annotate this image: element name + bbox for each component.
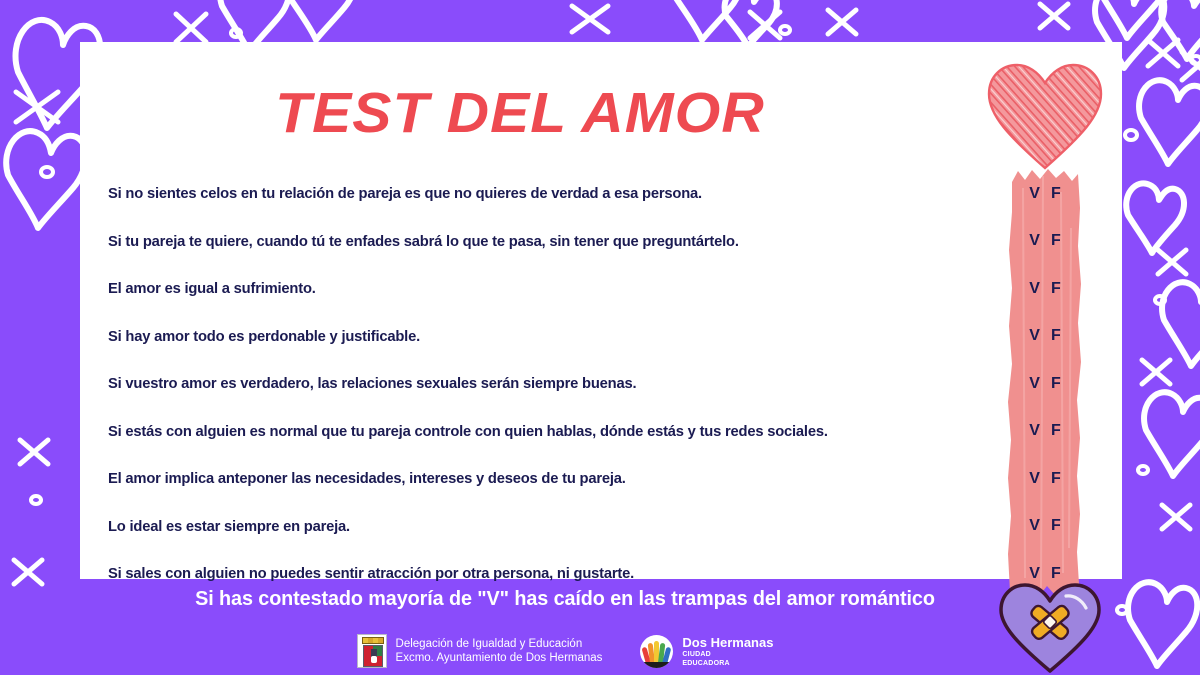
delegacion-line-1: Delegación de Igualdad y Educación [396, 637, 603, 651]
answer-false-option[interactable]: F [1051, 327, 1061, 345]
answer-false-option[interactable]: F [1051, 280, 1061, 298]
answer-row: V F [1003, 218, 1087, 266]
answer-row: V F [1003, 360, 1087, 408]
footer-logos: Delegación de Igualdad y Educación Excmo… [0, 634, 1130, 668]
answer-true-option[interactable]: V [1029, 565, 1040, 583]
answer-row: V F [1003, 265, 1087, 313]
question-item: Si vuestro amor es verdadero, las relaci… [108, 360, 981, 408]
answer-false-option[interactable]: F [1051, 232, 1061, 250]
dos-hermanas-subtitle-1: CIUDAD [682, 651, 773, 658]
delegacion-text-block: Delegación de Igualdad y Educación Excmo… [396, 637, 603, 665]
dos-hermanas-logo-group: Dos Hermanas CIUDAD EDUCADORA [640, 635, 773, 668]
dos-hermanas-subtitle-2: EDUCADORA [682, 660, 773, 667]
answer-row: V F [1003, 313, 1087, 361]
content-card: TEST DEL AMOR [80, 42, 1122, 579]
question-item: Si hay amor todo es perdonable y justifi… [108, 313, 981, 361]
footer-message: Si has contestado mayoría de "V" has caí… [6, 588, 1125, 611]
scribble-heart-icon [985, 60, 1105, 172]
question-item: Si tu pareja te quiere, cuando tú te enf… [108, 218, 981, 266]
answer-true-option[interactable]: V [1029, 470, 1040, 488]
answer-false-option[interactable]: F [1051, 470, 1061, 488]
colored-hands-circle-icon [640, 635, 673, 668]
answer-row: V F [1003, 408, 1087, 456]
delegacion-logo-group: Delegación de Igualdad y Educación Excmo… [357, 634, 603, 668]
answer-false-option[interactable]: F [1051, 185, 1061, 203]
answer-true-option[interactable]: V [1029, 232, 1040, 250]
answer-false-option[interactable]: F [1051, 422, 1061, 440]
answer-column: V F V F V F V F V F V F [1003, 170, 1087, 598]
answer-false-option[interactable]: F [1051, 517, 1061, 535]
dos-hermanas-title: Dos Hermanas [682, 636, 773, 649]
answer-true-option[interactable]: V [1029, 422, 1040, 440]
bandaged-heart-icon [996, 582, 1104, 675]
dos-hermanas-crest-icon [357, 634, 387, 668]
answer-true-option[interactable]: V [1029, 517, 1040, 535]
page-title: TEST DEL AMOR [67, 80, 973, 146]
question-item: Lo ideal es estar siempre en pareja. [108, 503, 981, 551]
answer-true-option[interactable]: V [1029, 185, 1040, 203]
answer-true-option[interactable]: V [1029, 375, 1040, 393]
answer-row: V F [1003, 503, 1087, 551]
delegacion-line-2: Excmo. Ayuntamiento de Dos Hermanas [396, 651, 603, 665]
poster-root: TEST DEL AMOR [0, 0, 1200, 675]
answer-false-option[interactable]: F [1051, 565, 1061, 583]
question-item: El amor es igual a sufrimiento. [108, 265, 981, 313]
question-list: Si no sientes celos en tu relación de pa… [108, 170, 1008, 598]
answer-true-option[interactable]: V [1029, 280, 1040, 298]
answer-false-option[interactable]: F [1051, 375, 1061, 393]
dos-hermanas-text-block: Dos Hermanas CIUDAD EDUCADORA [682, 636, 773, 667]
question-item: Si no sientes celos en tu relación de pa… [108, 170, 981, 218]
answer-row: V F [1003, 455, 1087, 503]
answer-row: V F [1003, 170, 1087, 218]
answer-true-option[interactable]: V [1029, 327, 1040, 345]
question-item: El amor implica anteponer las necesidade… [108, 455, 981, 503]
question-item: Si estás con alguien es normal que tu pa… [108, 408, 981, 456]
